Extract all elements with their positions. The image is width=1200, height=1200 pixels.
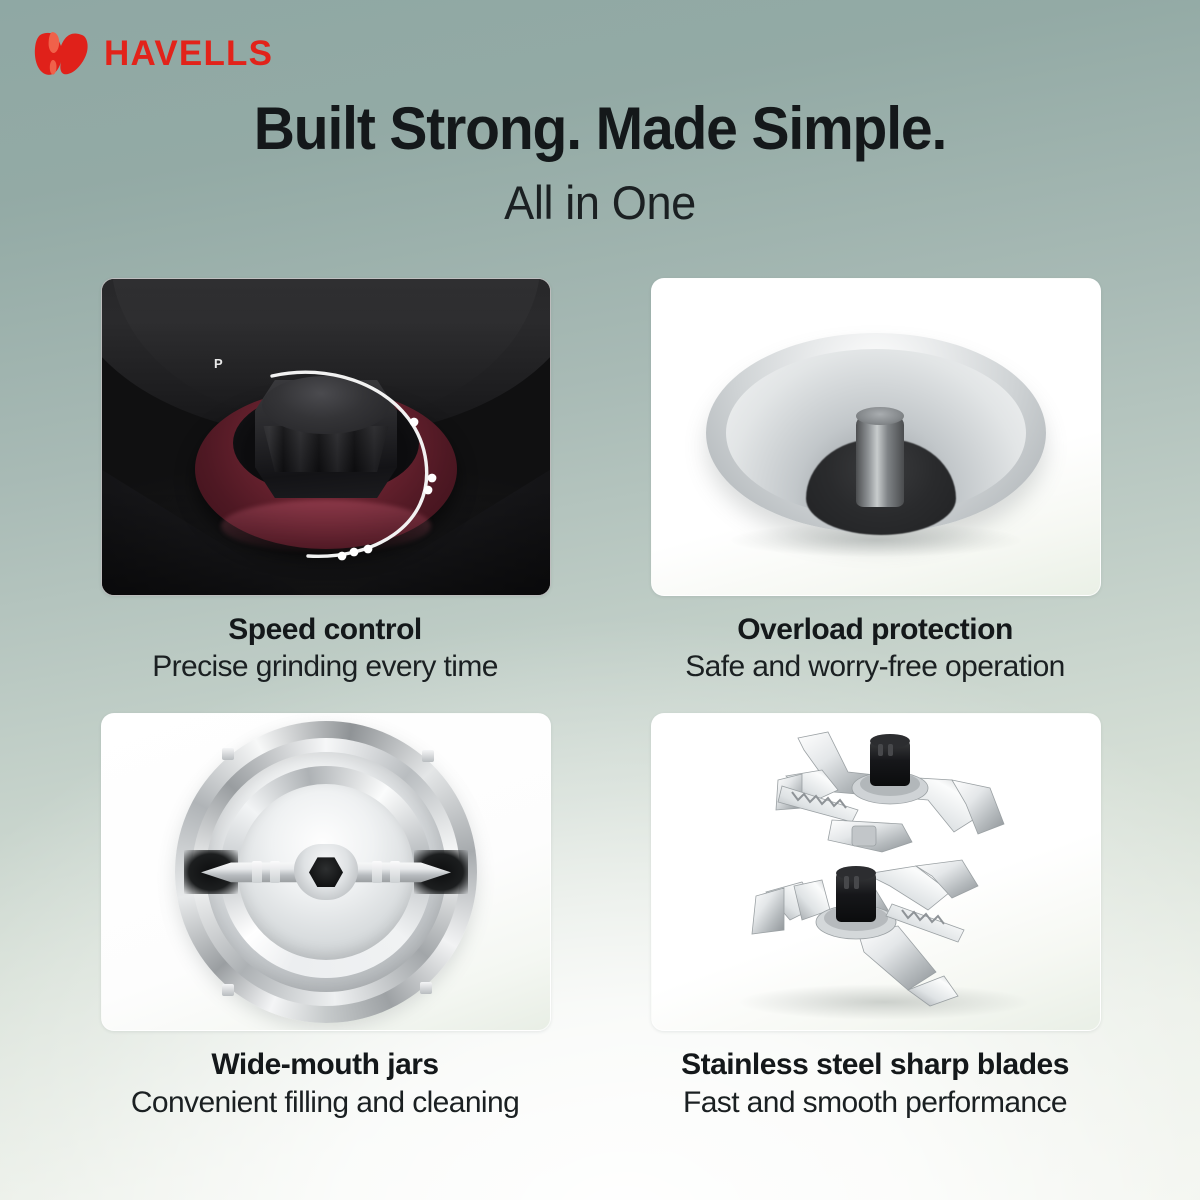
overload-part-group [652,279,1100,595]
blade-assembly-upper [776,732,1004,834]
protector-pin-top [856,407,904,425]
feature-caption: Speed control Precise grinding every tim… [101,612,549,685]
feature-title: Stainless steel sharp blades [651,1047,1099,1082]
jar-notch-1 [222,748,234,760]
jar-blade-tab-2 [270,861,280,883]
feature-title: Overload protection [651,612,1099,647]
page-title: Built Strong. Made Simple. [30,98,1170,160]
feature-grid: P Speed control Precise grinding every t… [0,278,1200,1121]
speed-dial-arc [176,354,476,570]
havells-flame-icon [32,28,90,78]
wide-mouth-jar-photo [101,713,551,1031]
speed-control-knob-photo: P [101,278,551,596]
jar-notch-4 [420,982,432,994]
feature-subtitle: Fast and smooth performance [651,1085,1099,1121]
feature-subtitle: Convenient filling and cleaning [101,1085,549,1121]
brand-logo: HAVELLS [32,28,273,78]
feature-caption: Overload protection Safe and worry-free … [651,612,1099,685]
dial-marker-p: P [214,356,223,371]
feature-card-stainless-blades: Stainless steel sharp blades Fast and sm… [651,713,1099,1120]
jar-blade-tab-3 [372,861,382,883]
jar-notch-3 [222,984,234,996]
speed-dot-2 [428,474,437,483]
feature-card-wide-mouth-jars: Wide-mouth jars Convenient filling and c… [101,713,549,1120]
product-feature-banner: HAVELLS Built Strong. Made Simple. All i… [0,0,1200,1200]
feature-card-overload-protection: Overload protection Safe and worry-free … [651,278,1099,685]
speed-dot-3 [350,548,359,557]
stainless-steel-blades-photo [651,713,1101,1031]
feature-subtitle: Safe and worry-free operation [651,649,1099,685]
blades-shadow [738,984,1030,1020]
jar-notch-2 [422,750,434,762]
overload-protector-photo [651,278,1101,596]
blades-illustration [652,714,1100,1030]
feature-caption: Stainless steel sharp blades Fast and sm… [651,1047,1099,1120]
feature-title: Wide-mouth jars [101,1047,549,1082]
feature-subtitle: Precise grinding every time [101,649,549,685]
speed-dot-2b [424,486,433,495]
speed-dot-3b [364,545,373,554]
blade-assembly-lower [752,820,978,1006]
speed-dot-1 [410,418,419,427]
blade-square-hole [852,826,876,846]
protector-pin [856,411,904,507]
brand-name: HAVELLS [104,36,273,71]
page-subtitle: All in One [24,178,1176,227]
jar-blade-tab-4 [390,861,400,883]
feature-title: Speed control [101,612,549,647]
jar-blade-tab-1 [252,861,262,883]
feature-caption: Wide-mouth jars Convenient filling and c… [101,1047,549,1120]
speed-dot-3c [338,552,347,561]
feature-card-speed-control: P Speed control Precise grinding every t… [101,278,549,685]
